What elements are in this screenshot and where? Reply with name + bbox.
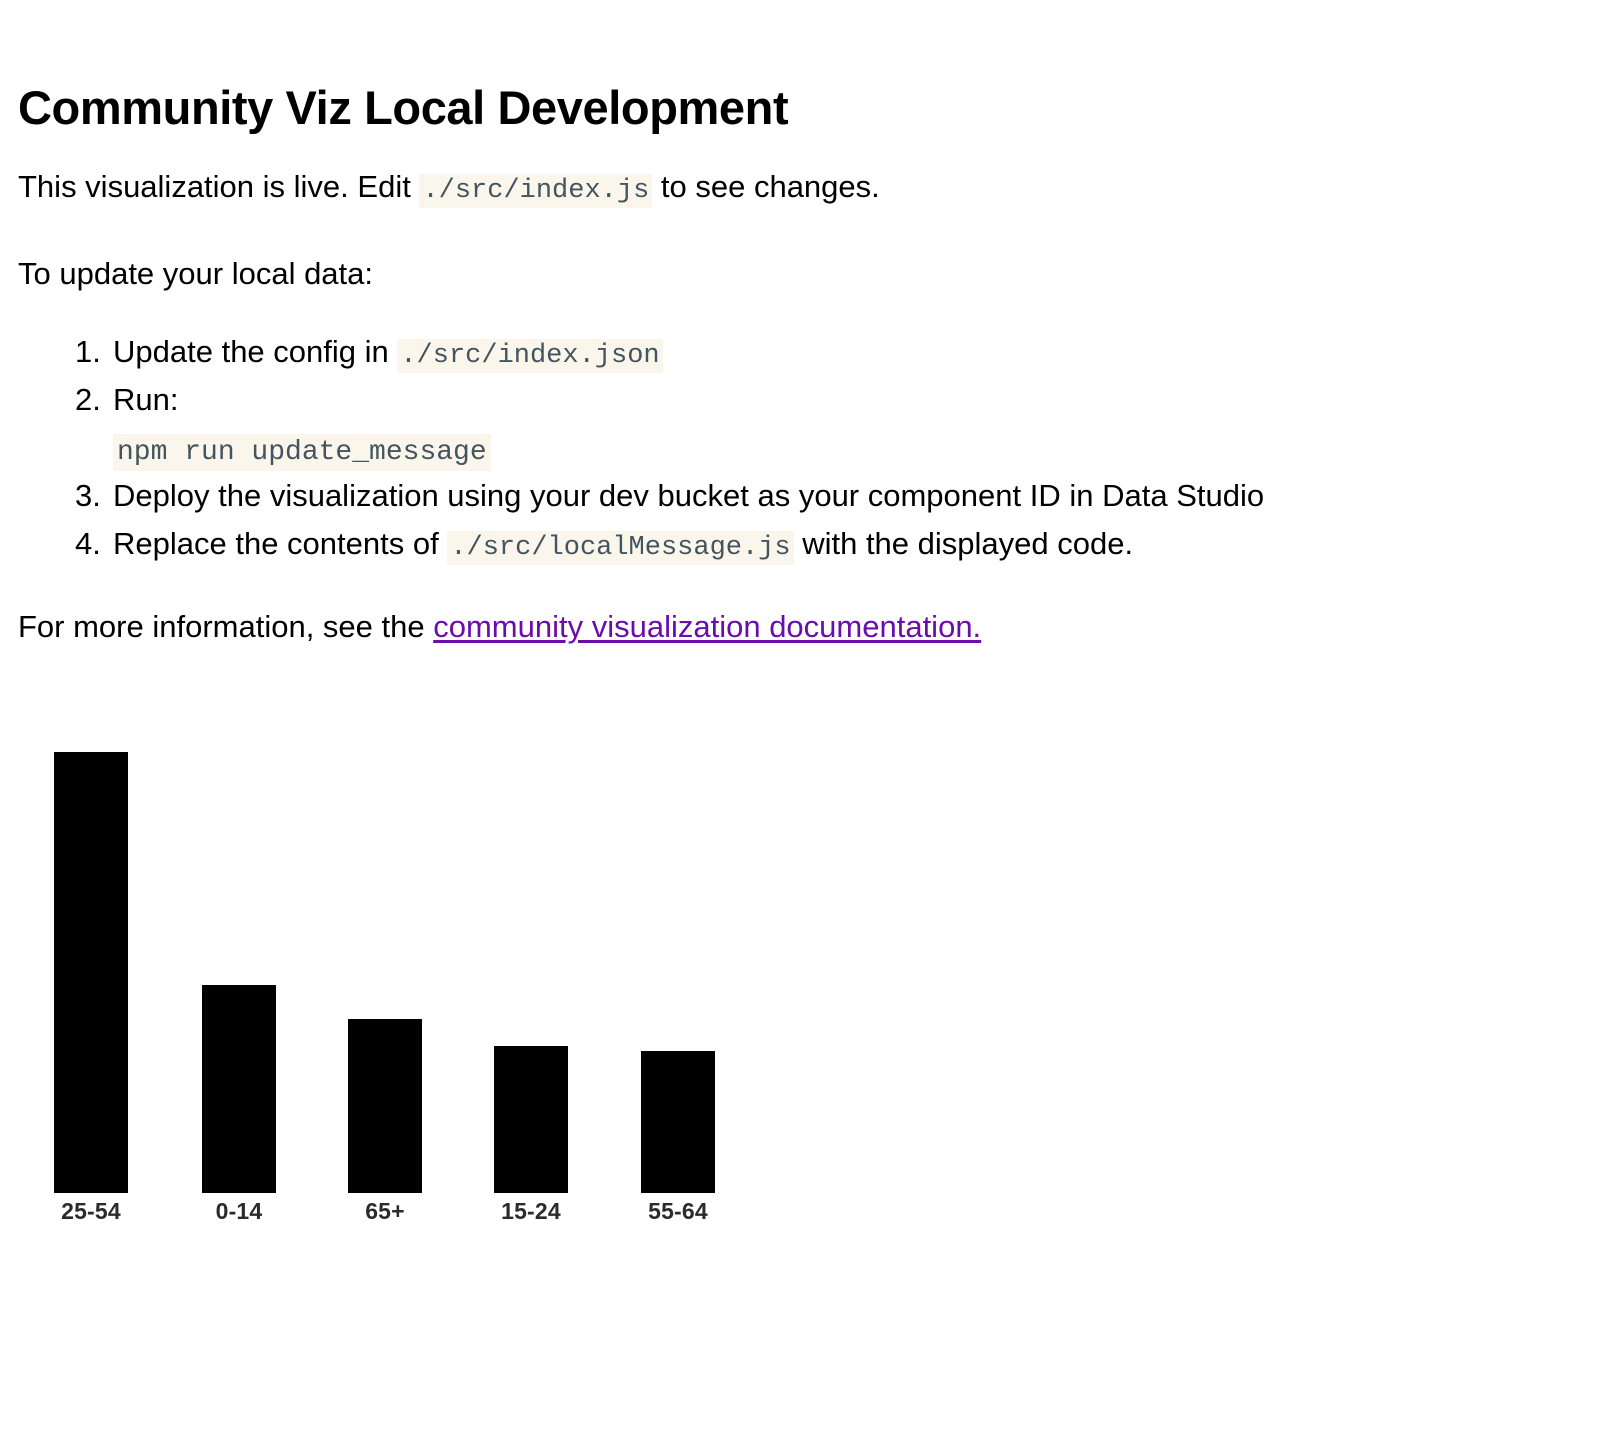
bar-1	[202, 985, 276, 1193]
bar-4	[641, 1051, 715, 1193]
page-root: Community Viz Local Development This vis…	[0, 0, 1600, 1435]
bar-label-2: 65+	[318, 1198, 452, 1225]
bar-label-4: 55-64	[611, 1198, 745, 1225]
bar-label-0: 25-54	[24, 1198, 158, 1225]
bar-3	[494, 1046, 568, 1193]
bar-2	[348, 1019, 422, 1193]
bar-label-3: 15-24	[464, 1198, 598, 1225]
bar-chart: 25-54 0-14 65+ 15-24 55-64	[0, 0, 1600, 1435]
bar-0	[54, 752, 128, 1193]
bar-label-1: 0-14	[172, 1198, 306, 1225]
